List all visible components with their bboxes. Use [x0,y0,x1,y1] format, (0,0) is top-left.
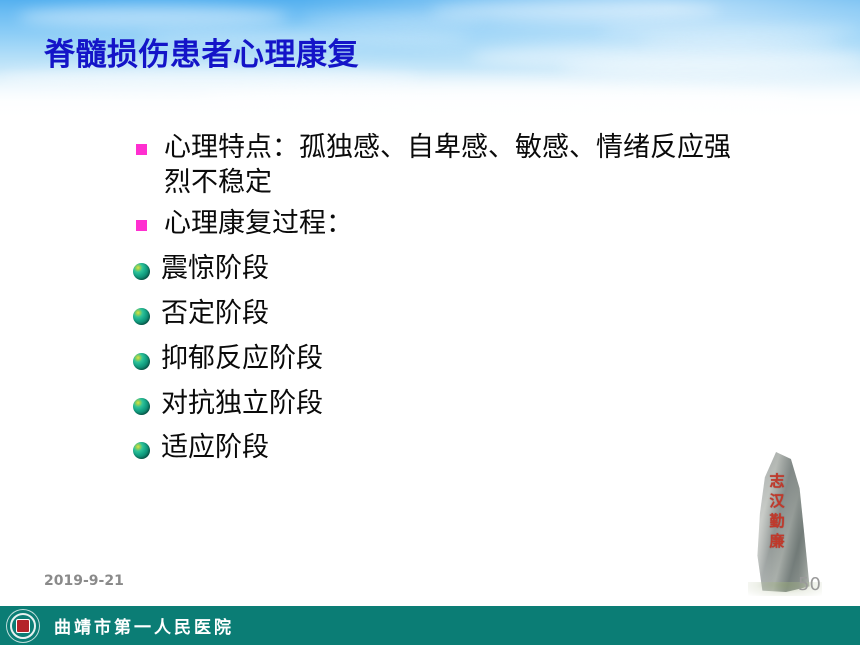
magenta-square-bullet-icon [136,144,147,155]
bullet-text: 适应阶段 [161,431,269,465]
bullet-item-level2: 适应阶段 [0,431,860,465]
slide-date: 2019-9-21 [44,573,124,589]
stone-inscription: 志 汉 勤 廉 [766,474,788,549]
bullet-item-level2: 抑郁反应阶段 [0,342,860,376]
footer-bar: 曲靖市第一人民医院 [0,606,860,645]
stone-inscription-char: 志 [769,474,784,489]
slide-body: 心理特点：孤独感、自卑感、敏感、情绪反应强烈不稳定 心理康复过程： 震惊阶段 否… [0,130,860,465]
bullet-item-level2: 震惊阶段 [0,252,860,286]
bullet-item-level1: 心理康复过程： [0,206,860,241]
cloud-wisp [430,2,720,20]
stone-inscription-char: 汉 [769,494,784,509]
teal-sphere-bullet-icon [133,442,150,459]
banner-fade-overlay [0,68,860,128]
stone-monument-image: 志 汉 勤 廉 [742,450,838,600]
teal-sphere-bullet-icon [133,308,150,325]
teal-sphere-bullet-icon [133,398,150,415]
bullet-text: 心理特点：孤独感、自卑感、敏感、情绪反应强烈不稳定 [164,130,744,200]
bullet-item-level1: 心理特点：孤独感、自卑感、敏感、情绪反应强烈不稳定 [0,130,860,200]
teal-sphere-bullet-icon [133,263,150,280]
stone-inscription-char: 廉 [769,534,784,549]
cloud-wisp [300,16,480,26]
organization-name: 曲靖市第一人民医院 [54,613,234,638]
bullet-text: 震惊阶段 [161,252,269,286]
teal-sphere-bullet-icon [133,353,150,370]
presentation-slide: 脊髓损伤患者心理康复 心理特点：孤独感、自卑感、敏感、情绪反应强烈不稳定 心理康… [0,0,860,645]
bullet-text: 对抗独立阶段 [161,387,323,421]
bullet-item-level2: 否定阶段 [0,297,860,331]
bullet-text: 抑郁反应阶段 [161,342,323,376]
stone-inscription-char: 勤 [769,514,784,529]
bullet-item-level2: 对抗独立阶段 [0,387,860,421]
bullet-text: 心理康复过程： [164,206,353,241]
cloud-wisp [640,36,840,48]
cloud-wisp [18,6,288,28]
cloud-wisp [600,24,860,38]
hospital-logo-icon [6,609,40,643]
page-number: 50 [798,574,821,595]
page-title: 脊髓损伤患者心理康复 [44,38,359,74]
bullet-text: 否定阶段 [161,297,269,331]
magenta-square-bullet-icon [136,220,147,231]
cloud-wisp [470,44,860,70]
